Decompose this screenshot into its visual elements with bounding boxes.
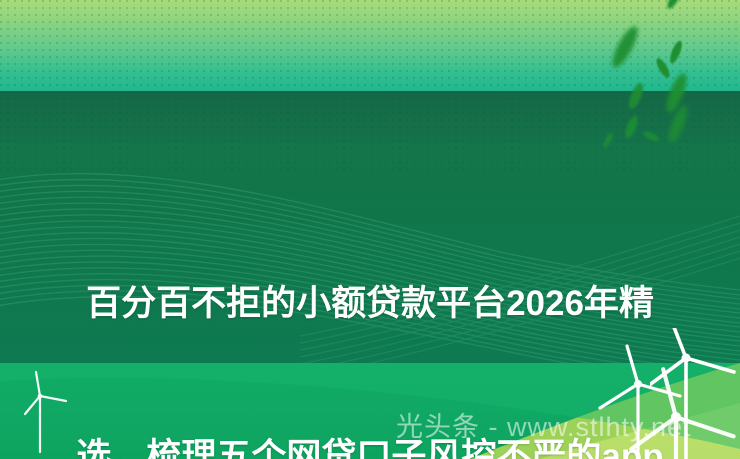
banner-title: 百分百不拒的小额贷款平台2026年精 选，梳理五个网贷口子风控不严的app <box>0 176 740 459</box>
title-line-1: 百分百不拒的小额贷款平台2026年精 <box>0 278 740 329</box>
promo-banner: 百分百不拒的小额贷款平台2026年精 选，梳理五个网贷口子风控不严的app 光头… <box>0 0 740 459</box>
background-band-top <box>0 0 740 92</box>
title-line-2: 选，梳理五个网贷口子风控不严的app <box>0 431 740 459</box>
